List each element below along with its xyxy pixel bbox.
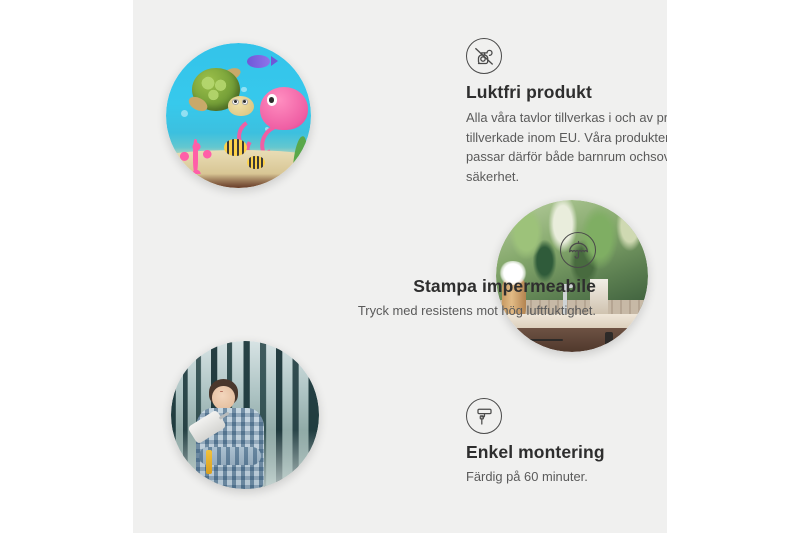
feature-body: Tryck med resistens mot hög luftfuktighe… xyxy=(308,301,596,321)
purple-fish-icon xyxy=(247,55,270,68)
content-panel: Luktfri produkt Alla våra tavlor tillver… xyxy=(133,0,667,533)
no-fragrance-spray-icon xyxy=(466,38,502,74)
decorator-forest-circle-image xyxy=(171,341,319,489)
hand-tool-prop xyxy=(206,450,212,474)
feature-title: Luktfri produkt xyxy=(466,82,667,103)
paint-roller-icon xyxy=(466,398,502,434)
seabed-shadow xyxy=(166,174,311,189)
wooden-cabinet xyxy=(496,328,648,352)
umbrella-icon xyxy=(560,232,596,268)
coral-illustration xyxy=(175,130,219,174)
striped-fish-icon xyxy=(224,139,247,156)
promo-page: Luktfri produkt Alla våra tavlor tillver… xyxy=(0,0,800,533)
feature-body: Färdig på 60 minuter. xyxy=(466,467,667,487)
feature-title: Enkel montering xyxy=(466,442,667,463)
underwater-cartoon-circle-image xyxy=(166,43,311,188)
feature-title: Stampa impermeabile xyxy=(308,276,596,297)
feature-easy-install: Enkel montering Färdig på 60 minuter. xyxy=(466,398,667,487)
feature-waterproof: Stampa impermeabile Tryck med resistens … xyxy=(308,232,596,321)
striped-fish-icon xyxy=(247,156,264,169)
feature-body: Alla våra tavlor tillverkas i och av pro… xyxy=(466,108,667,186)
woman-illustration xyxy=(192,379,269,489)
turtle-illustration xyxy=(186,68,253,129)
feature-odourless: Luktfri produkt Alla våra tavlor tillver… xyxy=(466,38,667,186)
